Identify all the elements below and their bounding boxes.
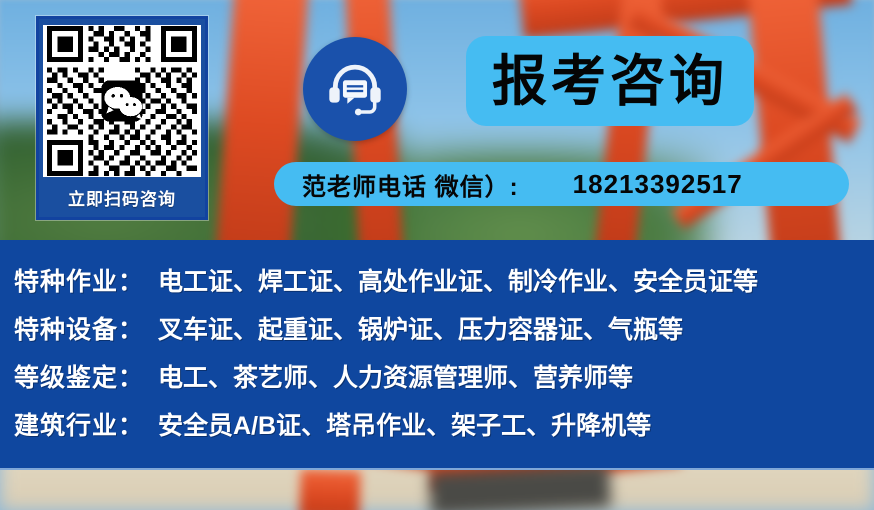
info-row: 特种作业： 电工证、焊工证、高处作业证、制冷作业、安全员证等 [14,262,874,310]
qr-code-icon [47,26,197,176]
headset-support-icon [320,54,390,124]
info-row-value: 电工、茶艺师、人力资源管理师、营养师等 [158,358,633,394]
promo-poster: 立即扫码咨询 报考咨询 范老师电话 微信）: 18213392517 特种作业：… [0,0,874,510]
info-row-value: 安全员A/B证、塔吊作业、架子工、升降机等 [158,406,651,442]
qr-card-caption: 立即扫码咨询 [68,183,176,217]
info-row: 建筑行业： 安全员A/B证、塔吊作业、架子工、升降机等 [14,406,874,454]
info-row: 等级鉴定： 电工、茶艺师、人力资源管理师、营养师等 [14,358,874,406]
qr-code-image-wrap [43,25,201,177]
contact-banner[interactable]: 范老师电话 微信）: 18213392517 [274,162,849,206]
title-banner: 报考咨询 [466,36,754,126]
info-row-value: 电工证、焊工证、高处作业证、制冷作业、安全员证等 [158,262,758,298]
info-row-label: 等级鉴定： [14,358,144,394]
support-badge[interactable] [303,37,407,141]
info-row-label: 特种作业： [14,262,144,298]
certificate-list-panel: 特种作业： 电工证、焊工证、高处作业证、制冷作业、安全员证等 特种设备： 叉车证… [0,240,874,470]
background-shadow-mass [429,463,611,510]
background-crane-beam [299,469,361,510]
info-row-label: 特种设备： [14,310,144,346]
info-row-value: 叉车证、起重证、锅炉证、压力容器证、气瓶等 [158,310,683,346]
contact-label: 范老师电话 微信）: [302,167,519,202]
page-title: 报考咨询 [492,54,728,109]
contact-phone-number[interactable]: 18213392517 [573,169,743,200]
info-row-label: 建筑行业： [14,406,144,442]
info-row: 特种设备： 叉车证、起重证、锅炉证、压力容器证、气瓶等 [14,310,874,358]
qr-code-card[interactable]: 立即扫码咨询 [36,16,208,220]
